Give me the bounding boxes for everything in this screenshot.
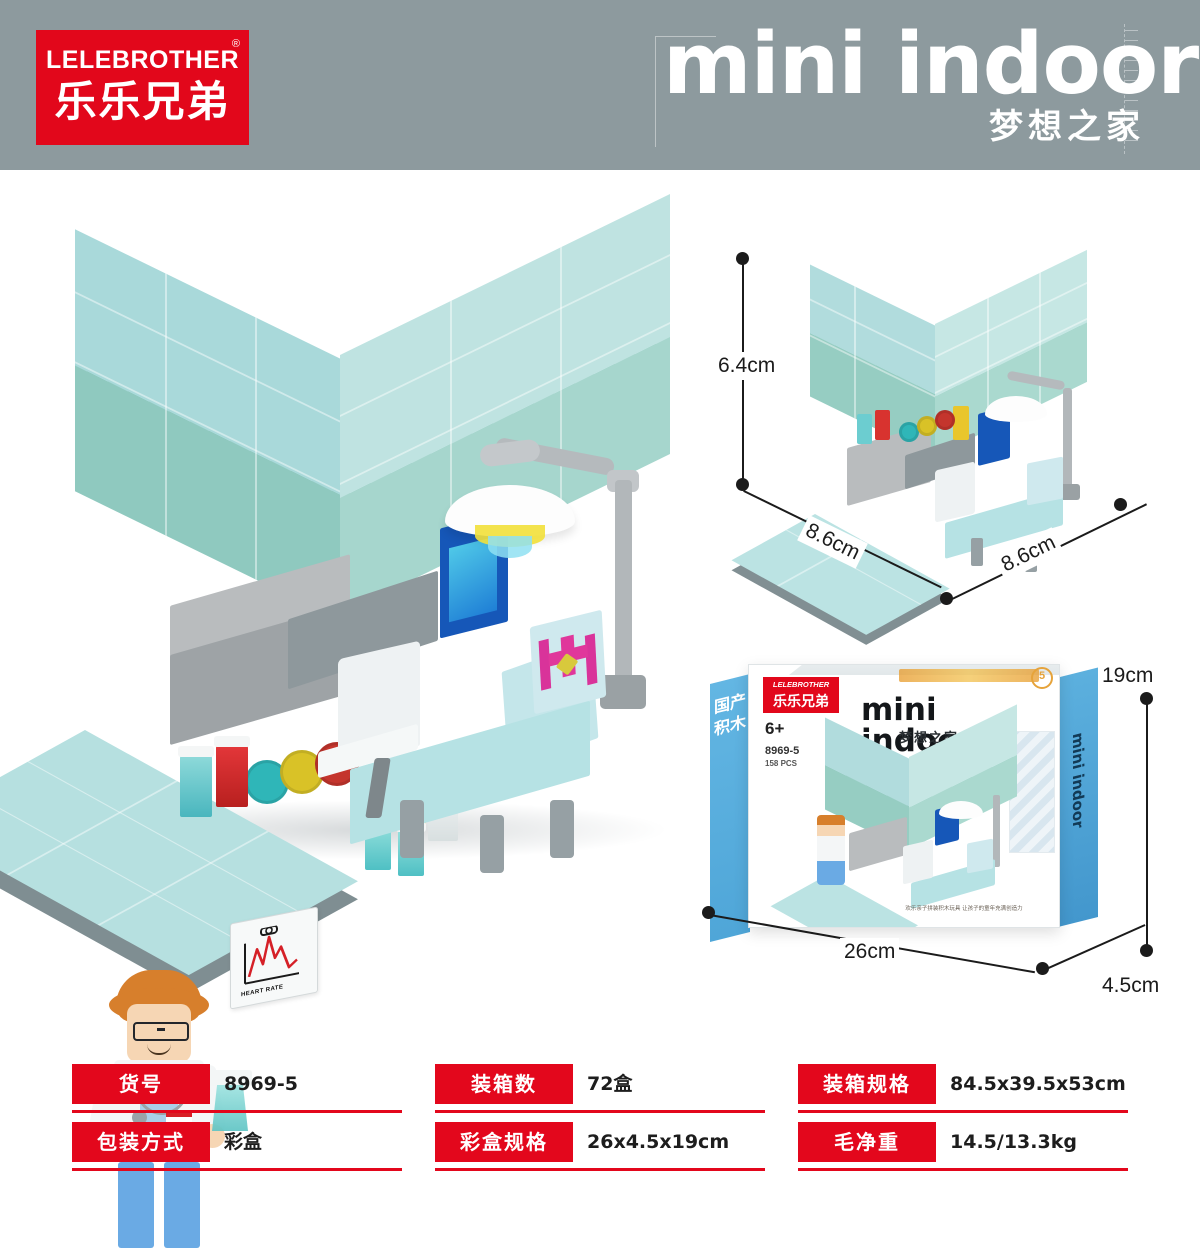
minifig-smile [147, 1044, 171, 1055]
minifig-head [127, 1004, 191, 1062]
spec-column-3: 装箱规格 84.5x39.5x53cm 毛净重 14.5/13.3kg [798, 1062, 1128, 1182]
box-tagline: 欢乐亲子拼装积木玩具 让孩子的童年充满创造力 [899, 905, 1029, 913]
box-front-face: 5 LELEBROTHER 乐乐兄弟 6+ 8969-5 158 PCS min… [748, 664, 1060, 928]
spec-key: 毛净重 [798, 1122, 936, 1162]
box-spine-right-text: mini indoor [1069, 709, 1087, 852]
spec-row: 装箱数 72盒 [435, 1062, 765, 1120]
bed-leg [480, 815, 504, 873]
box-artwork-model [811, 751, 1026, 901]
box-art-iv-pole [993, 795, 1000, 867]
glasses-icon [133, 1022, 189, 1041]
specification-table: 货号 8969-5 包装方式 彩盒 装箱数 72盒 彩盒规格 26x4.5x19… [72, 1062, 1128, 1182]
header-banner: ® LELEBROTHER 乐乐兄弟 mini indoor 梦想之家 [0, 0, 1200, 170]
spec-row: 装箱规格 84.5x39.5x53cm [798, 1062, 1128, 1120]
box-age-rating: 6+ [765, 719, 784, 739]
spec-column-1: 货号 8969-5 包装方式 彩盒 [72, 1062, 402, 1182]
box-art-minifig [817, 815, 845, 885]
room-wall-left [75, 229, 343, 622]
box-spine-right: mini indoor [1056, 668, 1098, 928]
box-spine-left-text: 国产积木 [710, 688, 750, 741]
spec-rule [72, 1110, 402, 1113]
box-spine-left: 国产积木 [710, 674, 750, 942]
retail-box-figure: 国产积木 mini indoor 5 LELEBROTHER 乐乐兄弟 6+ 8… [700, 650, 1180, 1010]
spec-key: 货号 [72, 1064, 210, 1104]
model-dimensions-figure: 6.4cm 8.6cm 8.6cm [700, 240, 1180, 640]
bed-leg [550, 800, 574, 858]
spec-key: 彩盒规格 [435, 1122, 573, 1162]
iv-pole-base [600, 675, 646, 709]
box-dim-label-height: 19cm [1098, 662, 1157, 690]
header-title-group: mini indoor 梦想之家 [655, 14, 1155, 164]
box-dim-line-height [1146, 698, 1148, 950]
medical-cross-panel [530, 610, 607, 715]
spec-value: 8969-5 [224, 1064, 298, 1104]
brand-logo-en: LELEBROTHER [36, 48, 249, 73]
mini-iv-pole [1063, 388, 1072, 490]
mini-bed-leg [971, 538, 983, 566]
hero-isometric-room: HEART RATE [40, 330, 690, 890]
box-top-strip [899, 669, 1039, 682]
mini-bottle-yellow [953, 406, 969, 440]
spec-row: 包装方式 彩盒 [72, 1120, 402, 1178]
brand-logo: ® LELEBROTHER 乐乐兄弟 [36, 30, 249, 145]
box-dim-dot-height-bottom [1140, 944, 1153, 957]
spec-value: 26x4.5x19cm [587, 1122, 729, 1162]
spec-rule [798, 1110, 1128, 1113]
mini-bottle-red [875, 410, 890, 440]
spec-row: 毛净重 14.5/13.3kg [798, 1120, 1128, 1178]
spec-row: 货号 8969-5 [72, 1062, 402, 1120]
spec-value: 彩盒 [224, 1122, 262, 1162]
retail-box-3d: 国产积木 mini indoor 5 LELEBROTHER 乐乐兄弟 6+ 8… [710, 664, 1070, 936]
spec-key: 装箱规格 [798, 1064, 936, 1104]
box-dim-dot-width-left [702, 906, 715, 919]
spec-value: 14.5/13.3kg [950, 1122, 1077, 1162]
box-dim-label-depth: 4.5cm [1098, 972, 1163, 1000]
mini-chair [935, 461, 975, 522]
spec-key: 包装方式 [72, 1122, 210, 1162]
mini-wall-disc-yellow [917, 416, 937, 436]
spec-rule [435, 1110, 765, 1113]
page-subtitle: 梦想之家 [989, 110, 1145, 144]
product-sheet: ® LELEBROTHER 乐乐兄弟 mini indoor 梦想之家 [0, 0, 1200, 1203]
box-logo-cn: 乐乐兄弟 [763, 691, 839, 711]
dim-dot-depth-bottom [940, 592, 953, 605]
spec-column-2: 装箱数 72盒 彩盒规格 26x4.5x19cm [435, 1062, 765, 1182]
mini-wall-disc-red [935, 410, 955, 430]
box-art-lamp [939, 801, 983, 819]
box-art-chair [903, 840, 933, 885]
dim-dot-width-right [1114, 498, 1127, 511]
spec-value: 84.5x39.5x53cm [950, 1064, 1126, 1104]
spec-row: 彩盒规格 26x4.5x19cm [435, 1120, 765, 1178]
mini-wall-disc-teal [899, 422, 919, 442]
page-title: mini indoor [663, 22, 1198, 107]
box-art-cross-panel [967, 838, 993, 873]
hero-model-photo: HEART RATE [40, 330, 690, 890]
brand-logo-cn: 乐乐兄弟 [36, 80, 249, 124]
mini-cross-panel [1027, 457, 1063, 506]
dim-dot-height-bottom [736, 478, 749, 491]
box-series-badge: 5 [1031, 667, 1053, 689]
lamp-lens [488, 536, 532, 558]
spec-value: 72盒 [587, 1064, 632, 1104]
box-item-code: 8969-5 [765, 745, 799, 759]
spec-key: 装箱数 [435, 1064, 573, 1104]
mini-bottle-teal [857, 414, 872, 444]
box-brand-logo: LELEBROTHER 乐乐兄弟 [763, 677, 839, 713]
spec-rule [72, 1168, 402, 1171]
box-dim-label-width: 26cm [840, 938, 899, 966]
box-logo-en: LELEBROTHER [763, 680, 839, 689]
bed-leg [400, 800, 424, 858]
bottle-teal [180, 755, 212, 817]
bottle-red [216, 745, 248, 807]
spec-rule [798, 1168, 1128, 1171]
spec-rule [435, 1168, 765, 1171]
box-piece-count: 158 PCS [765, 759, 797, 768]
iv-pole [615, 480, 632, 690]
dim-label-height: 6.4cm [714, 352, 779, 380]
